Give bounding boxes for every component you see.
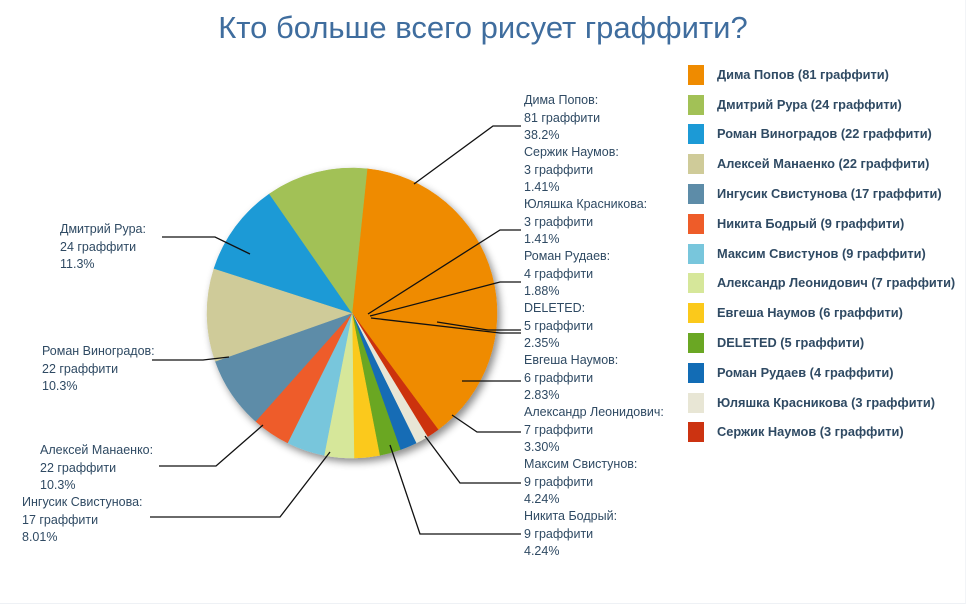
legend-item[interactable]: Евгеша Наумов (6 граффити) [688, 298, 964, 328]
callout-name: Максим Свистунов: [524, 456, 637, 474]
callout-percent: 8.01% [22, 529, 143, 547]
legend-item-label: Максим Свистунов (9 граффити) [717, 246, 926, 262]
legend-item-label: Евгеша Наумов (6 граффити) [717, 305, 903, 321]
callout-name: Сержик Наумов: [524, 144, 619, 162]
legend-item-label: Дмитрий Рура (24 граффити) [717, 97, 902, 113]
callout-count: 4 граффити [524, 266, 610, 284]
callout-percent: 1.41% [524, 179, 619, 197]
callout-name: Евгеша Наумов: [524, 352, 618, 370]
callout-percent: 2.35% [524, 335, 593, 353]
legend-item[interactable]: Роман Рудаев (4 граффити) [688, 358, 964, 388]
callout-label-dima-popov: Дима Попов:81 граффити38.2% [524, 92, 600, 145]
callout-name: Роман Виноградов: [42, 343, 155, 361]
legend-item-label: Юляшка Красникова (3 граффити) [717, 395, 935, 411]
callout-percent: 4.24% [524, 543, 617, 561]
callout-leader-line [452, 415, 521, 432]
legend-color-swatch [688, 214, 704, 234]
legend-item-label: DELETED (5 граффити) [717, 335, 864, 351]
callout-leader-line [390, 445, 521, 534]
legend-item-label: Сержик Наумов (3 граффити) [717, 424, 904, 440]
callout-label-nikita-bodryy: Никита Бодрый:9 граффити4.24% [524, 508, 617, 561]
legend-item-label: Роман Рудаев (4 граффити) [717, 365, 894, 381]
legend-color-swatch [688, 184, 704, 204]
callout-leader-line [425, 436, 521, 483]
callout-label-roman-rudaev: Роман Рудаев:4 граффити1.88% [524, 248, 610, 301]
callout-percent: 1.88% [524, 283, 610, 301]
callout-label-serzhik-naumov: Сержик Наумов:3 граффити1.41% [524, 144, 619, 197]
legend-item[interactable]: Александр Леонидович (7 граффити) [688, 269, 964, 299]
legend-item[interactable]: Сержик Наумов (3 граффити) [688, 418, 964, 448]
pie-slices-group [207, 168, 497, 458]
callout-count: 6 граффити [524, 370, 618, 388]
callout-name: Дима Попов: [524, 92, 600, 110]
callout-name: Никита Бодрый: [524, 508, 617, 526]
legend-color-swatch [688, 422, 704, 442]
callout-count: 7 граффити [524, 422, 664, 440]
callout-label-deleted: DELETED:5 граффити2.35% [524, 300, 593, 353]
callout-count: 3 граффити [524, 214, 647, 232]
callout-percent: 2.83% [524, 387, 618, 405]
callout-name: Юляшка Красникова: [524, 196, 647, 214]
legend-color-swatch [688, 273, 704, 293]
callout-count: 24 граффити [60, 239, 146, 257]
legend-color-swatch [688, 303, 704, 323]
legend-item-label: Алексей Манаенко (22 граффити) [717, 156, 929, 172]
callout-leader-line [159, 425, 263, 466]
callout-name: Роман Рудаев: [524, 248, 610, 266]
callout-percent: 10.3% [40, 477, 153, 495]
callout-leader-line [414, 126, 521, 184]
callout-name: Александр Леонидович: [524, 404, 664, 422]
legend-item-label: Дима Попов (81 граффити) [717, 67, 889, 83]
legend-item[interactable]: Максим Свистунов (9 граффити) [688, 239, 964, 269]
callout-count: 9 граффити [524, 526, 617, 544]
callout-count: 3 граффити [524, 162, 619, 180]
callout-count: 17 граффити [22, 512, 143, 530]
callout-label-maksim-svistunov: Максим Свистунов:9 граффити4.24% [524, 456, 637, 509]
callout-count: 5 граффити [524, 318, 593, 336]
callout-count: 22 граффити [40, 460, 153, 478]
callout-label-aleksandr-leonidovich: Александр Леонидович:7 граффити3.30% [524, 404, 664, 457]
legend-item-label: Роман Виноградов (22 граффити) [717, 126, 932, 142]
callout-label-dmitriy-rura: Дмитрий Рура:24 граффити11.3% [60, 221, 146, 274]
callout-percent: 11.3% [60, 256, 146, 274]
legend-item-label: Александр Леонидович (7 граффити) [717, 275, 955, 291]
callout-name: Алексей Манаенко: [40, 442, 153, 460]
legend-item[interactable]: Юляшка Красникова (3 граффити) [688, 388, 964, 418]
legend-color-swatch [688, 95, 704, 115]
legend-item[interactable]: Ингусик Свистунова (17 граффити) [688, 179, 964, 209]
callout-label-yulyashka-krasnikova: Юляшка Красникова:3 граффити1.41% [524, 196, 647, 249]
legend-color-swatch [688, 363, 704, 383]
callout-name: DELETED: [524, 300, 593, 318]
legend-item[interactable]: Дмитрий Рура (24 граффити) [688, 90, 964, 120]
legend-item[interactable]: DELETED (5 граффити) [688, 328, 964, 358]
callout-percent: 3.30% [524, 439, 664, 457]
chart-legend: Дима Попов (81 граффити)Дмитрий Рура (24… [688, 60, 964, 447]
callout-count: 81 граффити [524, 110, 600, 128]
callout-label-roman-vinogradov: Роман Виноградов:22 граффити10.3% [42, 343, 155, 396]
legend-color-swatch [688, 65, 704, 85]
legend-item[interactable]: Никита Бодрый (9 граффити) [688, 209, 964, 239]
legend-item-label: Никита Бодрый (9 граффити) [717, 216, 904, 232]
legend-color-swatch [688, 393, 704, 413]
callout-percent: 1.41% [524, 231, 647, 249]
legend-item[interactable]: Роман Виноградов (22 граффити) [688, 120, 964, 150]
callout-percent: 4.24% [524, 491, 637, 509]
legend-item[interactable]: Алексей Манаенко (22 граффити) [688, 149, 964, 179]
callout-label-evgesha-naumov: Евгеша Наумов:6 граффити2.83% [524, 352, 618, 405]
callout-percent: 38.2% [524, 127, 600, 145]
callout-name: Дмитрий Рура: [60, 221, 146, 239]
callout-leader-line [150, 452, 330, 517]
legend-color-swatch [688, 244, 704, 264]
legend-color-swatch [688, 124, 704, 144]
callout-label-ingusik-svistunova: Ингусик Свистунова:17 граффити8.01% [22, 494, 143, 547]
callout-count: 22 граффити [42, 361, 155, 379]
callout-count: 9 граффити [524, 474, 637, 492]
callout-label-aleksey-manaenko: Алексей Манаенко:22 граффити10.3% [40, 442, 153, 495]
legend-color-swatch [688, 154, 704, 174]
legend-item[interactable]: Дима Попов (81 граффити) [688, 60, 964, 90]
chart-canvas: Кто больше всего рисует граффити? Дима П… [0, 0, 966, 604]
legend-item-label: Ингусик Свистунова (17 граффити) [717, 186, 942, 202]
callout-percent: 10.3% [42, 378, 155, 396]
callout-name: Ингусик Свистунова: [22, 494, 143, 512]
legend-color-swatch [688, 333, 704, 353]
